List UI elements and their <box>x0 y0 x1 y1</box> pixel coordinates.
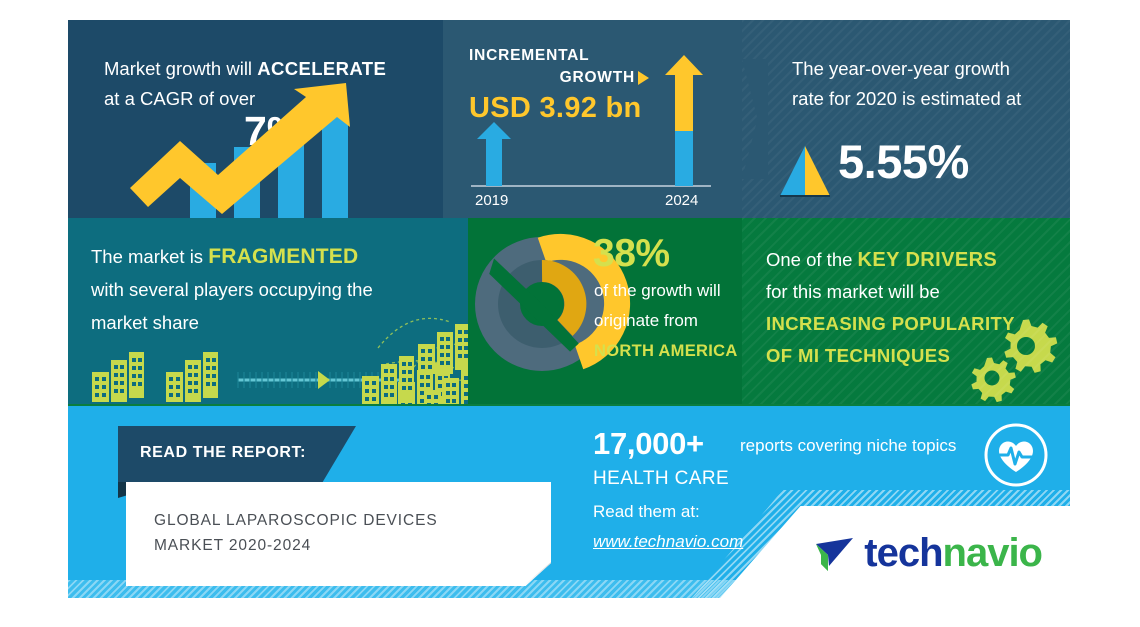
north-america-text-line2: originate from <box>594 306 742 336</box>
fragmented-text-line2: with several players occupying the <box>91 273 451 306</box>
fragmented-text-plain: The market is <box>91 246 208 267</box>
incremental-growth-heading: INCREMENTAL GROWTH <box>469 45 649 89</box>
yoy-text: The year-over-year growth rate for 2020 … <box>792 54 1042 114</box>
report-title: GLOBAL LAPAROSCOPIC DEVICES MARKET 2020-… <box>154 508 524 558</box>
incremental-heading-line2: GROWTH <box>560 69 635 86</box>
triangle-right-icon <box>638 71 649 85</box>
bar-2024-icon <box>665 55 703 186</box>
growth-arrow-bar-chart-icon <box>118 75 443 218</box>
key-drivers-bold3: OF MI TECHNIQUES <box>766 345 950 366</box>
panel-market-growth-accelerate: Market growth will ACCELERATE at a CAGR … <box>68 20 443 218</box>
triangle-up-icon <box>778 144 832 198</box>
yoy-text-line2: rate for 2020 is estimated at <box>792 84 1042 114</box>
report-category: HEALTH CARE <box>593 468 729 490</box>
key-drivers-text-line2: for this market will be <box>766 276 1056 308</box>
yoy-value: 5.55% <box>838 134 969 189</box>
report-count-suffix: reports covering niche topics <box>740 436 956 456</box>
north-america-text: of the growth will originate from NORTH … <box>594 276 742 366</box>
logo-text-navio: navio <box>943 531 1042 575</box>
technavio-logo: technavio <box>813 531 1042 576</box>
year-label-2019: 2019 <box>475 192 508 209</box>
panel-chevron-notch <box>742 59 768 179</box>
north-america-text-line1: of the growth will <box>594 276 742 306</box>
read-the-report-ribbon: READ THE REPORT: <box>118 426 356 482</box>
report-title-card[interactable]: GLOBAL LAPAROSCOPIC DEVICES MARKET 2020-… <box>126 482 551 586</box>
fragmented-text-bold: FRAGMENTED <box>208 245 358 268</box>
incremental-heading-line1: INCREMENTAL <box>469 45 649 67</box>
bar-2019-icon <box>477 122 511 186</box>
technavio-wordmark: technavio <box>864 531 1042 576</box>
key-drivers-bold: KEY DRIVERS <box>858 249 998 271</box>
key-drivers-text: One of the KEY DRIVERS for this market w… <box>766 244 1056 372</box>
report-title-line1: GLOBAL LAPAROSCOPIC DEVICES <box>154 508 524 533</box>
read-them-at-label: Read them at: <box>593 502 700 522</box>
panel-yoy-growth-rate: The year-over-year growth rate for 2020 … <box>742 20 1070 218</box>
key-drivers-text-plain: One of the <box>766 249 858 270</box>
report-title-line2: MARKET 2020-2024 <box>154 533 524 558</box>
panel-incremental-growth: INCREMENTAL GROWTH USD 3.92 bn 2019 2024 <box>443 20 742 218</box>
key-drivers-bold2: INCREASING POPULARITY <box>766 313 1015 334</box>
logo-text-tech: tech <box>864 531 942 575</box>
panel-report-banner: READ THE REPORT: GLOBAL LAPAROSCOPIC DEV… <box>68 406 1070 598</box>
panel-north-america-share: 38% of the growth will originate from NO… <box>468 218 742 406</box>
infographic-canvas: Market growth will ACCELERATE at a CAGR … <box>0 0 1140 627</box>
read-the-report-label: READ THE REPORT: <box>140 444 306 462</box>
report-count: 17,000+ <box>593 426 704 462</box>
panel-key-drivers: One of the KEY DRIVERS for this market w… <box>742 218 1070 406</box>
technavio-url-link[interactable]: www.technavio.com <box>593 532 743 552</box>
north-america-percent: 38% <box>593 232 670 276</box>
paper-plane-icon <box>813 533 855 575</box>
panel-market-fragmented: The market is FRAGMENTED with several pl… <box>68 218 468 406</box>
yoy-text-line1: The year-over-year growth <box>792 54 1042 84</box>
incremental-growth-value: USD 3.92 bn <box>469 92 642 125</box>
heart-pulse-icon <box>983 422 1049 488</box>
north-america-region: NORTH AMERICA <box>594 342 738 360</box>
year-label-2024: 2024 <box>665 192 698 209</box>
city-buildings-right-icon <box>358 310 468 406</box>
